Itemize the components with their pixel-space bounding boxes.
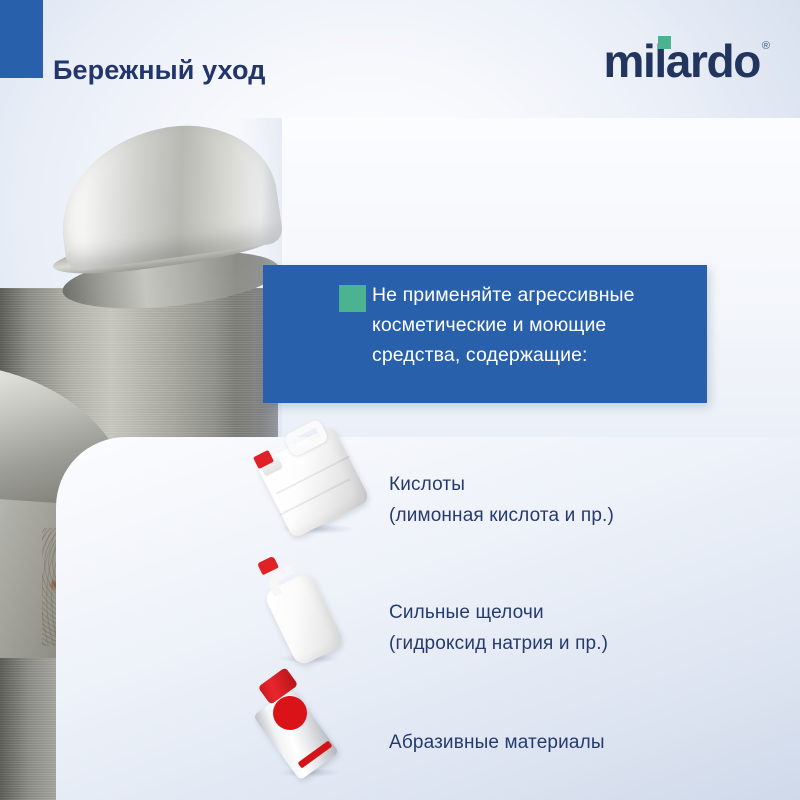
registered-trademark-icon: ®: [762, 40, 770, 52]
poster-canvas: Бережный уход milardo ® Не применяйте аг…: [0, 0, 800, 800]
warning-item-alkalis-label: Сильные щелочи (гидроксид натрия и пр.): [389, 597, 608, 659]
bottle-icon: [256, 556, 366, 666]
abrasive-tube-icon: [252, 672, 362, 782]
warning-item-abrasives-label: Абразивные материалы: [389, 727, 605, 758]
logo-wordmark-text: milardo: [604, 35, 760, 87]
canister-icon: [256, 420, 376, 540]
logo-wordmark: milardo: [604, 38, 760, 84]
banner-text: Не применяйте агрессивные косметические …: [372, 280, 692, 370]
warning-item-acids-label: Кислоты (лимонная кислота и пр.): [389, 469, 614, 531]
banner-bullet-square-icon: [339, 285, 366, 312]
corner-accent-square: [0, 0, 43, 78]
page-title: Бережный уход: [53, 55, 265, 86]
warning-banner: Не применяйте агрессивные косметические …: [263, 265, 707, 403]
logo-green-square-icon: [658, 36, 671, 49]
brand-logo: milardo ®: [604, 38, 770, 84]
